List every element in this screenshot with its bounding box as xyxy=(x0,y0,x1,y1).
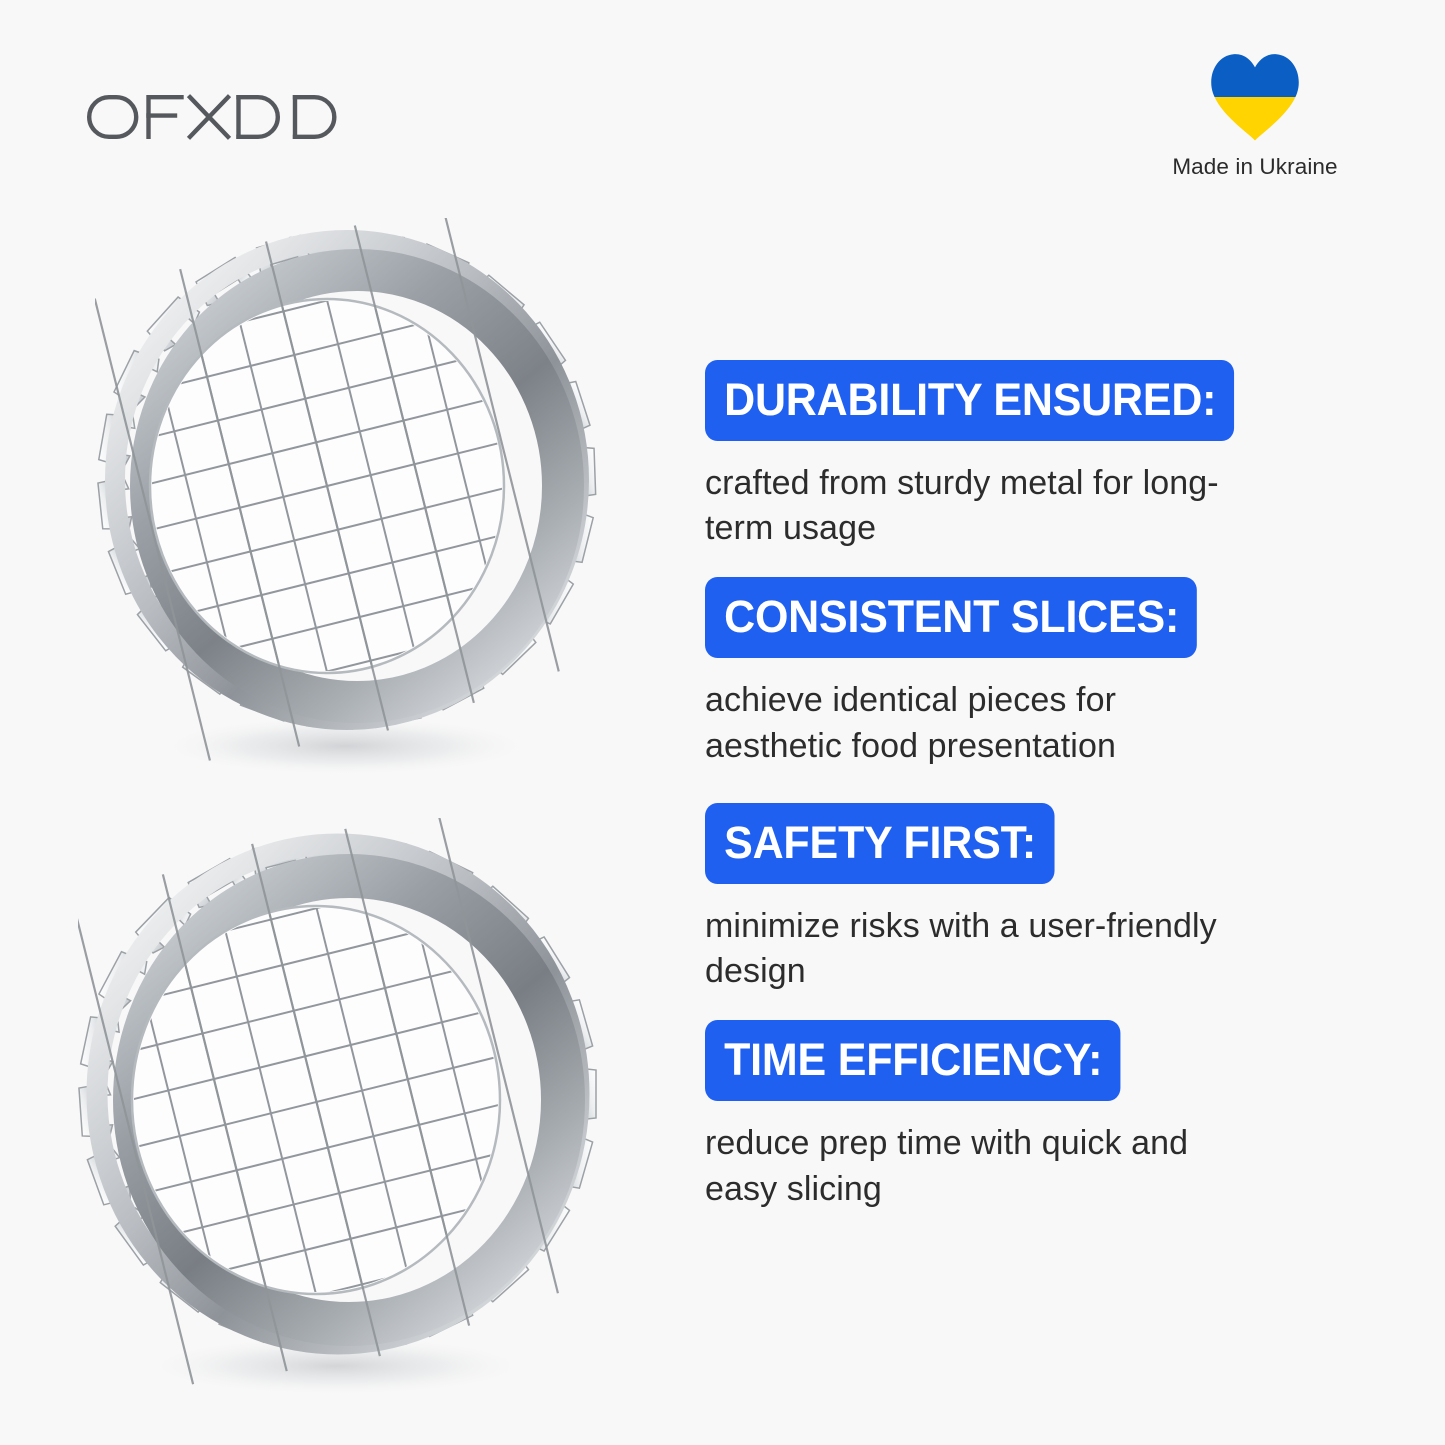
brand-logo: OFXDD xyxy=(86,86,376,148)
ukraine-heart-icon xyxy=(1209,52,1301,142)
feature-description: minimize risks with a user-friendly desi… xyxy=(705,904,1225,994)
feature-item-durability: DURABILITY ENSURED: crafted from sturdy … xyxy=(705,360,1325,551)
feature-description: crafted from sturdy metal for long-term … xyxy=(705,461,1225,551)
made-in-ukraine-label: Made in Ukraine xyxy=(1172,154,1337,180)
feature-description: achieve identical pieces for aesthetic f… xyxy=(705,678,1225,768)
feature-title-badge: CONSISTENT SLICES: xyxy=(705,577,1197,658)
product-image-bottom xyxy=(78,818,608,1398)
made-in-ukraine-badge: Made in Ukraine xyxy=(1155,52,1355,182)
feature-list: DURABILITY ENSURED: crafted from sturdy … xyxy=(705,360,1325,1212)
feature-title-badge: TIME EFFICIENCY: xyxy=(705,1020,1120,1101)
feature-title-badge: DURABILITY ENSURED: xyxy=(705,360,1234,441)
feature-item-time-efficiency: TIME EFFICIENCY: reduce prep time with q… xyxy=(705,1020,1325,1211)
feature-item-safety: SAFETY FIRST: minimize risks with a user… xyxy=(705,803,1325,994)
feature-description: reduce prep time with quick and easy sli… xyxy=(705,1121,1225,1211)
feature-title-badge: SAFETY FIRST: xyxy=(705,803,1054,884)
product-image-top xyxy=(95,218,605,778)
feature-item-consistent-slices: CONSISTENT SLICES: achieve identical pie… xyxy=(705,577,1325,768)
infographic-page: OFXDD Made in Ukraine xyxy=(0,0,1445,1445)
